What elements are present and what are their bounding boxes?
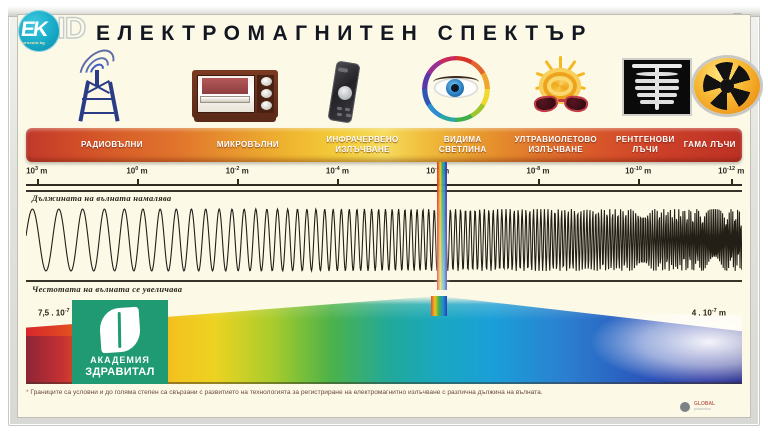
wl-short-unit: m	[717, 309, 726, 318]
xray-rib	[635, 86, 679, 90]
scale-label-5: 10-8 m	[526, 166, 549, 176]
wave-diagram-panel: Дължината на вълната намалява	[26, 190, 742, 282]
scale-tick-7	[731, 179, 733, 186]
scale-tick-6	[638, 179, 640, 186]
channel-logo: EK eurocom.bg	[10, 8, 66, 54]
scale-tick-5	[538, 179, 540, 186]
wavelength-caption: Дължината на вълната намалява	[32, 193, 171, 203]
remote-button-3	[337, 113, 342, 117]
wl-short-mantissa: 4 . 10	[692, 309, 712, 318]
visible-wavelength-short: 4 . 10-7 m	[692, 308, 726, 318]
sunglasses	[534, 94, 588, 114]
channel-logo-text: EK	[19, 18, 48, 42]
microwave-tray	[200, 96, 250, 103]
wavelength-scale: 103 m100 m10-2 m10-4 m10-6 m10-8 m10-10 …	[26, 166, 742, 190]
microwave-base	[194, 116, 276, 122]
tower-leg-left	[78, 82, 90, 122]
producer-logo-line2: production	[694, 407, 711, 411]
scale-label-6: 10-10 m	[625, 166, 651, 176]
tower-cross-upper	[82, 98, 114, 100]
wl-long-mantissa: 7,5 . 10	[38, 309, 65, 318]
tower-cross-lower	[82, 112, 114, 114]
scale-tick-0	[37, 179, 39, 186]
radiation-core	[720, 79, 734, 93]
remote-button-2	[345, 108, 350, 112]
microwave-food	[202, 78, 248, 94]
band-label-5: РЕНТГЕНОВИ ЛЪЧИ	[606, 135, 685, 155]
tv-remote-icon	[324, 62, 364, 124]
channel-logo-subtext: eurocom.bg	[20, 40, 45, 45]
scale-label-1: 100 m	[126, 166, 147, 176]
footnote-text: Границите са условни и до голяма степен …	[30, 389, 542, 396]
band-label-1: МИКРОВЪЛНИ	[191, 140, 306, 150]
scale-label-0: 103 m	[26, 166, 47, 176]
scale-label-7: 10-12 m	[718, 166, 744, 176]
xray-ribcage-icon	[622, 58, 692, 120]
frequency-caption: Честотата на вълната се увеличава	[32, 284, 182, 294]
globe-icon	[680, 402, 690, 412]
producer-logo: GLOBAL production	[680, 400, 742, 414]
xray-rib	[637, 93, 677, 97]
tower-leg-right	[108, 82, 120, 122]
band-label-2: ИНФРАЧЕРВЕНО ИЗЛЪЧВАНЕ	[305, 135, 420, 155]
remote-button-1	[337, 107, 342, 111]
scale-tick-3	[337, 179, 339, 186]
wave-panel-bottom-rule	[26, 280, 742, 282]
scale-label-3: 10-4 m	[326, 166, 349, 176]
screenshot-root: EK eurocom.bg HD ЕЛЕКТРОМАГНИТЕН СПЕКТЪР	[0, 0, 768, 432]
sunglass-lens-right	[563, 94, 589, 113]
sunglass-lens-left	[533, 94, 559, 113]
icon-row	[24, 52, 744, 126]
scale-tick-2	[237, 179, 239, 186]
microwave-oven-icon	[192, 70, 278, 124]
wave-curve	[26, 204, 742, 276]
footnote: * Границите са условни и до голяма степе…	[26, 388, 686, 398]
page-title: ЕЛЕКТРОМАГНИТЕН СПЕКТЪР	[96, 22, 696, 52]
band-label-6: ГАМА ЛЪЧИ	[678, 140, 742, 150]
spectrum-beam	[431, 296, 447, 316]
visible-light-glow	[433, 162, 451, 290]
eye-color-wheel-icon	[420, 54, 492, 124]
wave-panel-top-rule	[26, 190, 742, 192]
microwave-knob-3	[261, 101, 272, 110]
band-label-0: РАДИОВЪЛНИ	[33, 140, 191, 150]
sun-sunglasses-icon	[526, 54, 594, 124]
microwave-knob-1	[261, 77, 272, 86]
scale-label-2: 10-2 m	[226, 166, 249, 176]
leaf-icon	[99, 307, 142, 354]
academy-logo-line2: ЗДРАВИТАЛ	[72, 366, 168, 378]
footnote-marker: *	[26, 389, 29, 396]
academy-logo: АКАДЕМИЯ ЗДРАВИТАЛ	[72, 300, 168, 384]
remote-button-4	[346, 114, 351, 118]
xray-rib	[635, 79, 679, 83]
xray-rib	[636, 72, 678, 76]
scale-axis	[26, 184, 742, 186]
scale-tick-1	[137, 179, 139, 186]
academy-logo-line1: АКАДЕМИЯ	[72, 355, 168, 365]
microwave-knob-2	[261, 89, 272, 98]
eye-lid	[433, 76, 479, 88]
xray-rib	[640, 100, 674, 104]
band-label-3: ВИДИМА СВЕТЛИНА	[420, 135, 506, 155]
radiation-hazard-icon	[694, 58, 760, 118]
band-label-4: УЛТРАВИОЛЕТОВО ИЗЛЪЧВАНЕ	[502, 135, 609, 155]
radio-tower-icon	[62, 52, 132, 124]
